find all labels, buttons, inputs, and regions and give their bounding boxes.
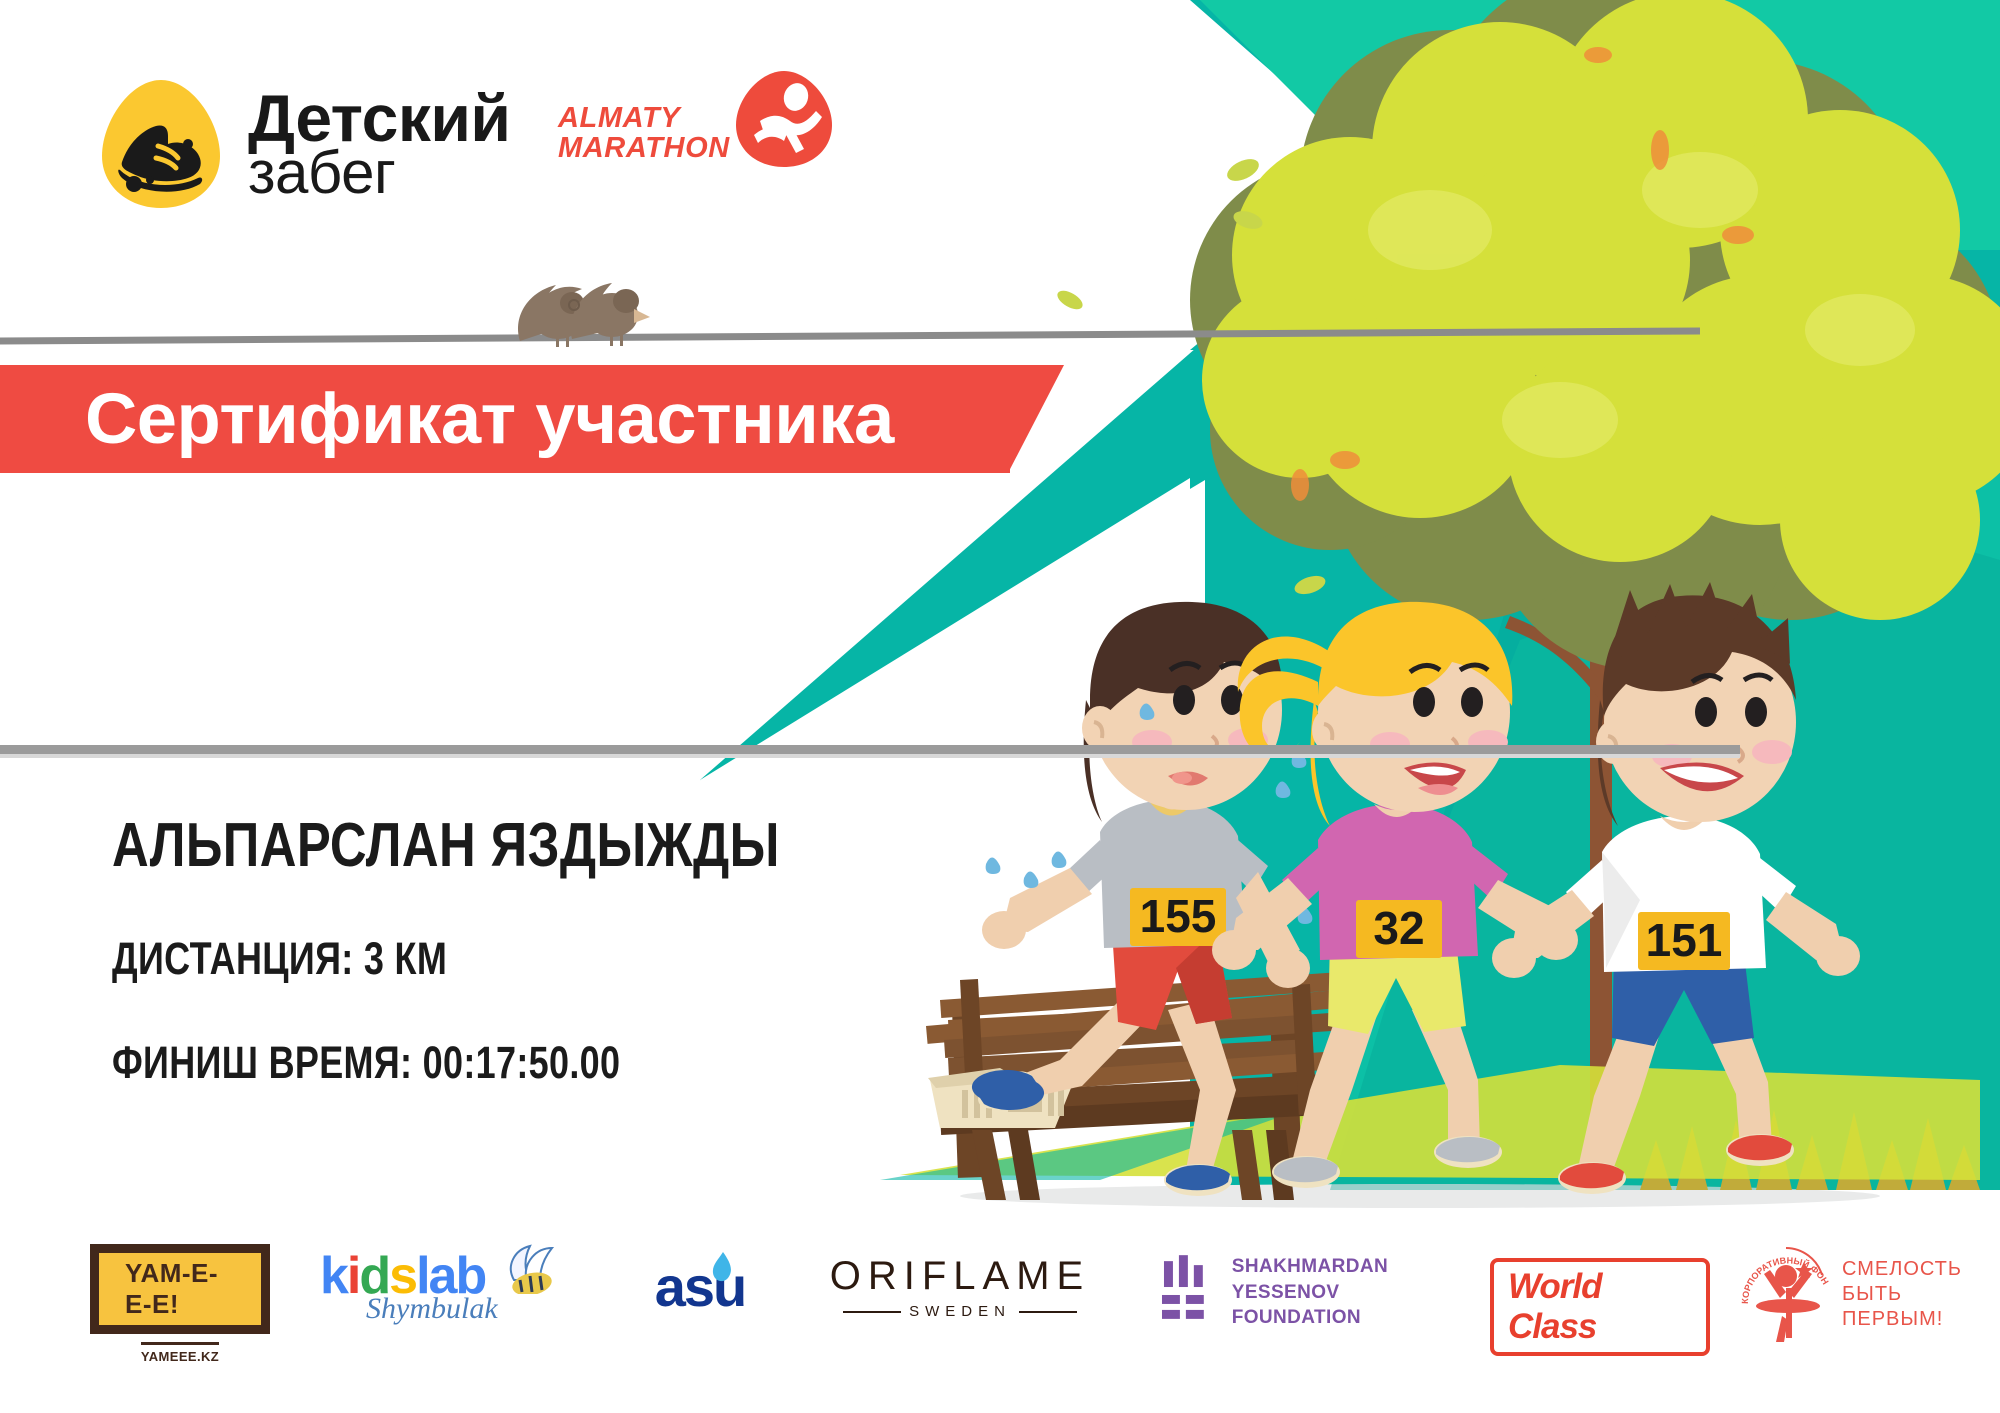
sponsor-asu: asu bbox=[610, 1254, 790, 1319]
yameee-wrapper-icon: YAM-E-E-E! bbox=[90, 1244, 270, 1334]
marathon-runner-icon bbox=[730, 65, 838, 173]
bib-number-155: 155 bbox=[1140, 890, 1217, 942]
sponsor-smelost: КОРПОРАТИВНЫЙ ФОНД СМЕЛОСТЬБЫТЬПЕРВЫМ! bbox=[1740, 1242, 1990, 1346]
kidslab-sub: Shymbulak bbox=[366, 1292, 498, 1326]
certificate-page: 155 bbox=[0, 0, 2000, 1413]
almaty-marathon-logo: ALMATY MARATHON bbox=[558, 95, 838, 173]
yameee-url: YAMEEE.KZ bbox=[141, 1342, 219, 1364]
page-title: Сертификат участника bbox=[85, 379, 894, 460]
yessenov-sub: FOUNDATION bbox=[1232, 1305, 1500, 1331]
almaty-line-1: ALMATY bbox=[558, 104, 730, 134]
banner-tilt-edge bbox=[1008, 365, 1064, 473]
almaty-line-2: MARATHON bbox=[558, 134, 730, 164]
bee-icon bbox=[496, 1240, 566, 1294]
yessenov-mark-icon bbox=[1160, 1255, 1216, 1329]
sponsor-row: YAM-E-E-E! YAMEEE.KZ kidslab Shymbulak a… bbox=[0, 1236, 2000, 1366]
certificate-title-banner: Сертификат участника bbox=[0, 365, 1010, 473]
participant-distance: ДИСТАНЦИЯ: 3 КМ bbox=[112, 933, 764, 985]
yessenov-text: SHAKHMARDAN YESSENOV FOUNDATION bbox=[1232, 1254, 1500, 1331]
bib-number-32: 32 bbox=[1373, 902, 1424, 954]
sponsor-world-class: World Class bbox=[1490, 1258, 1710, 1356]
detskiy-zabeg-logo: Детский забег bbox=[100, 78, 511, 210]
world-class-label: World Class bbox=[1508, 1267, 1602, 1346]
world-class-badge: World Class bbox=[1490, 1258, 1710, 1356]
participant-details: АЛЬПАРСЛАН ЯЗДЫЖДЫ ДИСТАНЦИЯ: 3 КМ ФИНИШ… bbox=[112, 810, 926, 1089]
sponsor-yameee: YAM-E-E-E! YAMEEE.KZ bbox=[90, 1244, 270, 1364]
oriflame-rule-left bbox=[843, 1311, 901, 1313]
section-divider bbox=[0, 745, 1740, 754]
asu-drop-icon bbox=[710, 1250, 736, 1284]
oriflame-label: ORIFLAME bbox=[830, 1254, 1090, 1299]
smelost-label: СМЕЛОСТЬБЫТЬПЕРВЫМ! bbox=[1842, 1257, 1962, 1332]
oriflame-sub-row: SWEDEN bbox=[843, 1303, 1077, 1320]
sponsor-kidslab: kidslab Shymbulak bbox=[320, 1246, 550, 1326]
yessenov-label: SHAKHMARDAN YESSENOV bbox=[1232, 1254, 1500, 1305]
yameee-label: YAM-E-E-E! bbox=[125, 1258, 218, 1319]
participant-name: АЛЬПАРСЛАН ЯЗДЫЖДЫ bbox=[112, 810, 780, 881]
running-kids-illustration: 155 bbox=[0, 0, 2000, 1413]
bib-number-151: 151 bbox=[1646, 914, 1723, 966]
sneaker-blob-icon bbox=[100, 78, 222, 210]
oriflame-rule-right bbox=[1019, 1311, 1077, 1313]
wire-with-birds bbox=[0, 245, 1700, 385]
brand-line-2: забег bbox=[248, 145, 511, 201]
sponsor-oriflame: ORIFLAME SWEDEN bbox=[820, 1254, 1100, 1320]
smelost-person-icon: КОРПОРАТИВНЫЙ ФОНД bbox=[1740, 1242, 1832, 1346]
oriflame-sub: SWEDEN bbox=[909, 1303, 1011, 1320]
participant-finish-time: ФИНИШ ВРЕМЯ: 00:17:50.00 bbox=[112, 1037, 764, 1089]
sponsor-yessenov: SHAKHMARDAN YESSENOV FOUNDATION bbox=[1160, 1254, 1500, 1331]
